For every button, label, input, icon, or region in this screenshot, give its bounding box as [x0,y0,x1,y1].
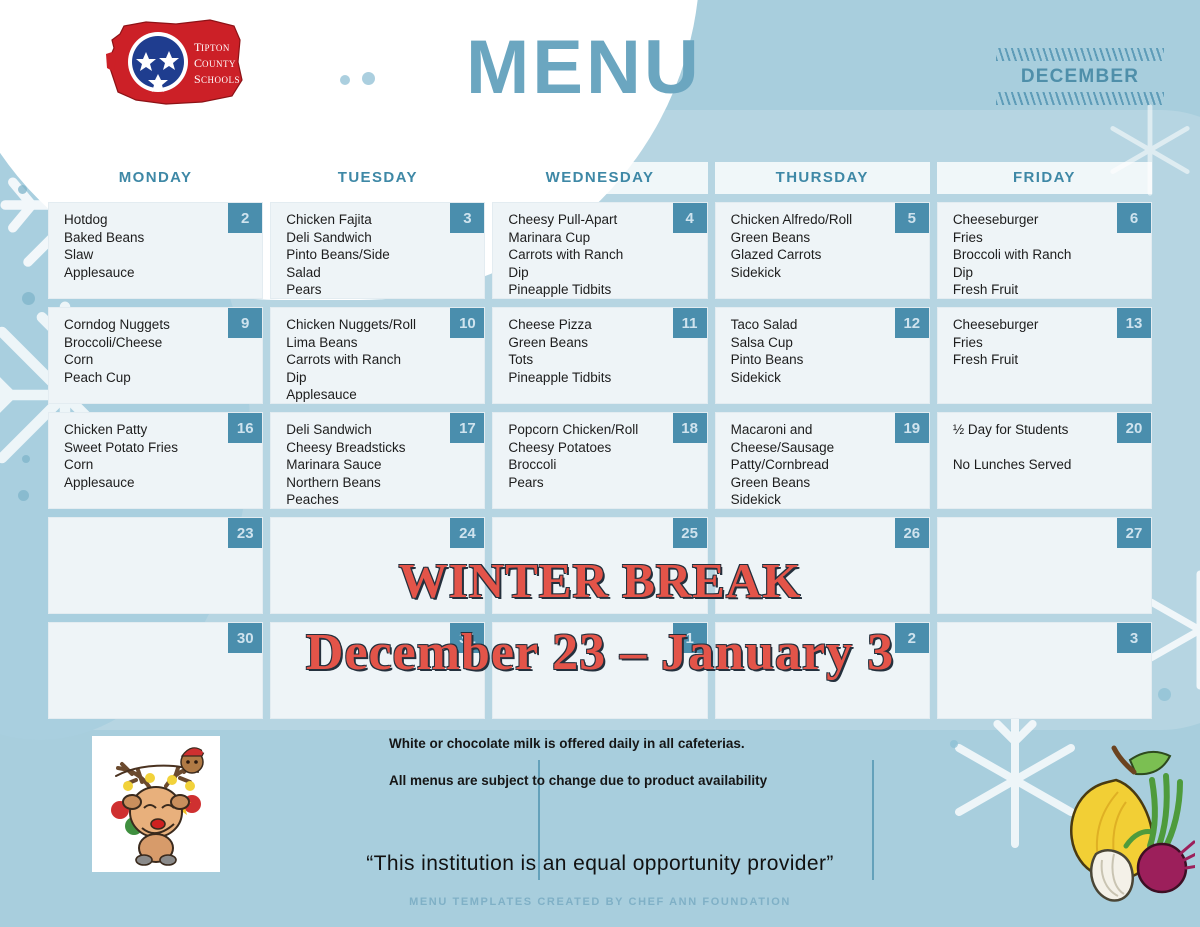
date-badge: 9 [228,308,262,338]
menu-item: Cheese Pizza [508,316,664,334]
menu-item: Slaw [64,246,220,264]
date-badge: 3 [450,203,484,233]
svg-text:CHOOLS: CHOOLS [201,75,240,85]
calendar-week-row: Chicken PattySweet Potato FriesCornApple… [48,412,1152,509]
menu-item: Green Beans [508,334,664,352]
date-badge: 31 [450,623,484,653]
date-badge: 16 [228,413,262,443]
menu-item: Broccoli with Ranch [953,246,1109,264]
date-badge: 11 [673,308,707,338]
menu-item: Marinara Sauce [286,456,442,474]
menu-item-spacer [953,439,1109,457]
menu-item: Corndog Nuggets [64,316,220,334]
menu-item: Salsa Cup [731,334,887,352]
month-label-block: DECEMBER [990,48,1170,105]
menu-item: Hotdog [64,211,220,229]
day-header-row: MONDAY TUESDAY WEDNESDAY THURSDAY FRIDAY [48,162,1152,194]
menu-item: Cheeseburger [953,316,1109,334]
calendar-day-cell[interactable]: CheeseburgerFriesBroccoli with RanchDipF… [937,202,1152,299]
menu-item: Sidekick [731,369,887,387]
date-badge: 20 [1117,413,1151,443]
menu-item: Green Beans [731,229,887,247]
menu-item: Cheeseburger [953,211,1109,229]
menu-item: Fresh Fruit [953,281,1109,299]
date-badge: 19 [895,413,929,443]
note-change: All menus are subject to change due to p… [389,773,767,788]
menu-item: Chicken Patty [64,421,220,439]
menu-item: Deli Sandwich [286,421,442,439]
menu-item: Sidekick [731,264,887,282]
calendar-day-cell[interactable]: Popcorn Chicken/RollCheesy PotatoesBrocc… [492,412,707,509]
decor-dot [18,185,27,194]
decor-dot [950,740,958,748]
date-badge: 5 [895,203,929,233]
calendar-day-cell[interactable]: 3 [937,622,1152,719]
menu-item: Dip [953,264,1109,282]
calendar-day-cell[interactable]: Chicken Alfredo/RollGreen BeansGlazed Ca… [715,202,930,299]
calendar-day-cell[interactable]: Macaroni andCheese/SausagePatty/Cornbrea… [715,412,930,509]
calendar-day-cell[interactable]: Deli SandwichCheesy BreadsticksMarinara … [270,412,485,509]
date-badge: 2 [895,623,929,653]
menu-item: Fries [953,334,1109,352]
date-badge: 4 [673,203,707,233]
calendar-week-row: 2324252627 [48,517,1152,614]
calendar-day-cell[interactable]: ½ Day for StudentsNo Lunches Served20 [937,412,1152,509]
calendar-day-cell[interactable]: Chicken Nuggets/RollLima BeansCarrots wi… [270,307,485,404]
date-badge: 27 [1117,518,1151,548]
template-credit: MENU TEMPLATES CREATED BY CHEF ANN FOUND… [0,896,1200,908]
menu-item: Chicken Fajita [286,211,442,229]
menu-item: Chicken Nuggets/Roll [286,316,442,334]
calendar-day-cell[interactable]: Taco SaladSalsa CupPinto BeansSidekick12 [715,307,930,404]
menu-item: Applesauce [64,474,220,492]
calendar-day-cell[interactable]: 1 [492,622,707,719]
calendar-week-row: 3031123 [48,622,1152,719]
menu-item: Cheese/Sausage [731,439,887,457]
menu-item: No Lunches Served [953,456,1109,474]
day-header-tuesday: TUESDAY [270,162,485,194]
svg-text:IPTON: IPTON [201,43,230,53]
date-badge: 18 [673,413,707,443]
date-badge: 24 [450,518,484,548]
menu-item: Pears [508,474,664,492]
menu-item: Sweet Potato Fries [64,439,220,457]
menu-item: Pineapple Tidbits [508,281,664,299]
calendar-day-cell[interactable]: Chicken PattySweet Potato FriesCornApple… [48,412,263,509]
note-milk: White or chocolate milk is offered daily… [389,736,745,751]
calendar-day-cell[interactable]: 31 [270,622,485,719]
menu-item: Fresh Fruit [953,351,1109,369]
calendar-grid: MONDAY TUESDAY WEDNESDAY THURSDAY FRIDAY… [48,162,1152,727]
day-header-wednesday: WEDNESDAY [492,162,707,194]
svg-text:OUNTY: OUNTY [202,59,236,69]
calendar-day-cell[interactable]: 24 [270,517,485,614]
menu-item: Dip [508,264,664,282]
menu-item: Applesauce [64,264,220,282]
menu-item: Popcorn Chicken/Roll [508,421,664,439]
calendar-day-cell[interactable]: Corndog NuggetsBroccoli/CheeseCornPeach … [48,307,263,404]
menu-item: Corn [64,456,220,474]
menu-item: Deli Sandwich [286,229,442,247]
decor-dot [22,455,30,463]
date-badge: 13 [1117,308,1151,338]
menu-item: Pineapple Tidbits [508,369,664,387]
calendar-day-cell[interactable]: Cheese PizzaGreen BeansTotsPineapple Tid… [492,307,707,404]
menu-item: Tots [508,351,664,369]
page-title: MENU [466,30,702,106]
date-badge: 10 [450,308,484,338]
date-badge: 26 [895,518,929,548]
decor-dot [1158,688,1171,701]
menu-item: Northern Beans [286,474,442,492]
menu-item: Cheesy Potatoes [508,439,664,457]
date-badge: 30 [228,623,262,653]
menu-item: Pinto Beans/Side [286,246,442,264]
date-badge: 25 [673,518,707,548]
calendar-day-cell[interactable]: 26 [715,517,930,614]
menu-item: ½ Day for Students [953,421,1109,439]
decor-dot [22,292,35,305]
menu-item: Cheesy Pull-Apart [508,211,664,229]
date-badge: 6 [1117,203,1151,233]
menu-item: Baked Beans [64,229,220,247]
menu-item: Dip [286,369,442,387]
decor-dot [362,72,375,85]
date-badge: 2 [228,203,262,233]
menu-item: Cheesy Breadsticks [286,439,442,457]
calendar-day-cell[interactable]: HotdogBaked BeansSlawApplesauce2 [48,202,263,299]
menu-item: Broccoli/Cheese [64,334,220,352]
menu-item: Peach Cup [64,369,220,387]
day-header-thursday: THURSDAY [715,162,930,194]
decor-dot [18,490,29,501]
menu-item: Taco Salad [731,316,887,334]
menu-item: Chicken Alfredo/Roll [731,211,887,229]
menu-item: Sidekick [731,491,887,509]
menu-item: Applesauce [286,386,442,404]
menu-item: Green Beans [731,474,887,492]
decor-dot [340,75,350,85]
day-header-friday: FRIDAY [937,162,1152,194]
date-badge: 23 [228,518,262,548]
menu-item: Pinto Beans [731,351,887,369]
calendar-day-cell[interactable]: 2 [715,622,930,719]
date-badge: 1 [673,623,707,653]
menu-item: Macaroni and [731,421,887,439]
menu-item: Fries [953,229,1109,247]
menu-item: Pears [286,281,442,299]
calendar-week-row: HotdogBaked BeansSlawApplesauce2Chicken … [48,202,1152,299]
menu-item: Glazed Carrots [731,246,887,264]
school-logo: T IPTON C OUNTY S CHOOLS [106,18,266,118]
menu-item: Broccoli [508,456,664,474]
menu-page: T IPTON C OUNTY S CHOOLS MENU DECEMBER M… [0,0,1200,927]
menu-item: Lima Beans [286,334,442,352]
menu-item: Carrots with Ranch [508,246,664,264]
date-badge: 3 [1117,623,1151,653]
date-badge: 17 [450,413,484,443]
calendar-day-cell[interactable]: CheeseburgerFriesFresh Fruit13 [937,307,1152,404]
menu-item: Carrots with Ranch [286,351,442,369]
menu-item: Patty/Cornbread [731,456,887,474]
menu-item: Corn [64,351,220,369]
calendar-day-cell[interactable]: Cheesy Pull-ApartMarinara CupCarrots wit… [492,202,707,299]
calendar-day-cell[interactable]: 25 [492,517,707,614]
calendar-day-cell[interactable]: Chicken FajitaDeli SandwichPinto Beans/S… [270,202,485,299]
menu-item: Peaches [286,491,442,509]
hatch-decoration-top [996,48,1164,61]
calendar-day-cell[interactable]: 27 [937,517,1152,614]
date-badge: 12 [895,308,929,338]
month-label: DECEMBER [990,61,1170,92]
calendar-day-cell[interactable]: 30 [48,622,263,719]
reindeer-illustration [92,736,220,872]
menu-item: Salad [286,264,442,282]
calendar-day-cell[interactable]: 23 [48,517,263,614]
produce-illustration [1030,742,1195,922]
calendar-week-row: Corndog NuggetsBroccoli/CheeseCornPeach … [48,307,1152,404]
hatch-decoration-bottom [996,92,1164,105]
day-header-monday: MONDAY [48,162,263,194]
menu-item: Marinara Cup [508,229,664,247]
